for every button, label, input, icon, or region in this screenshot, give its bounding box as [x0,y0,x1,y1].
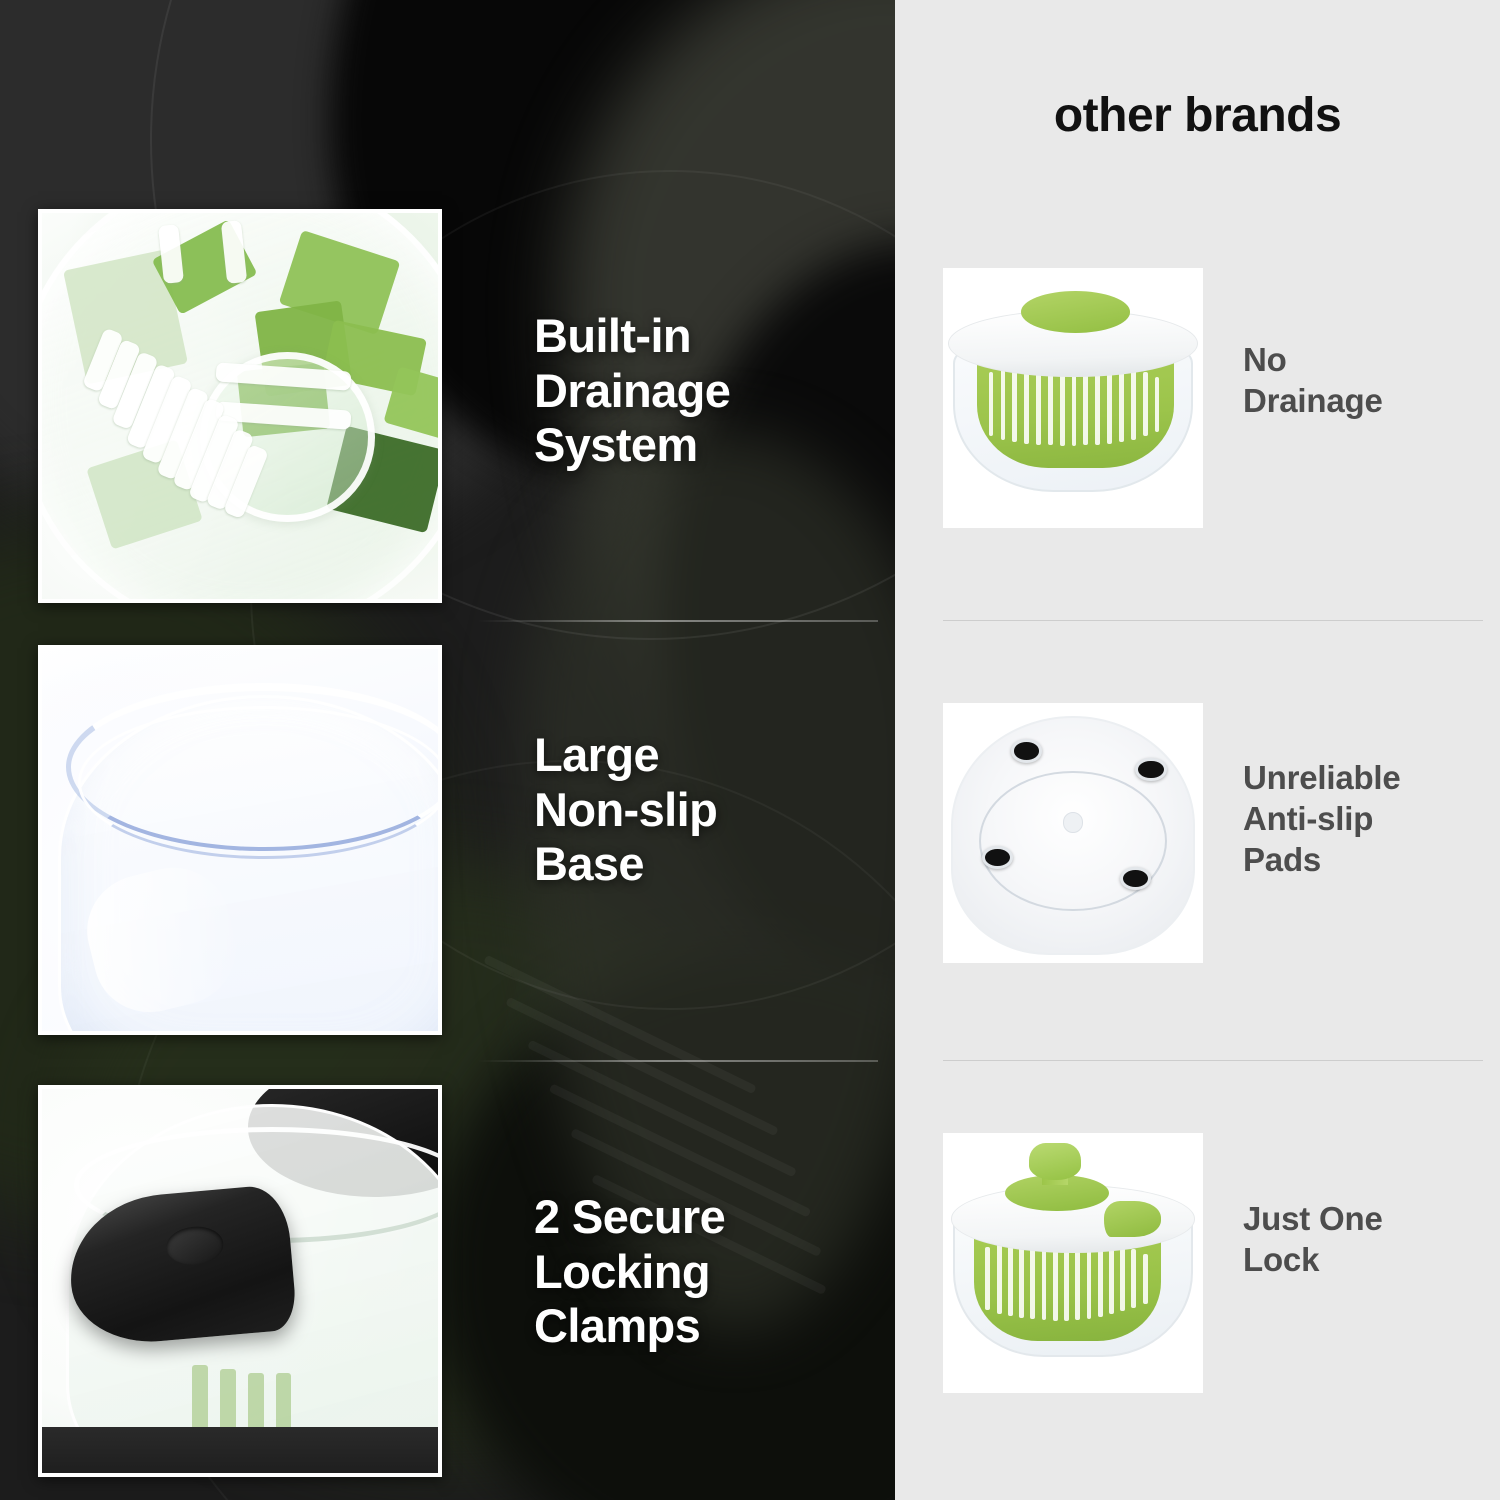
brand-label-anti-slip: Unreliable Anti-slip Pads [1243,758,1401,881]
brand-label-no-drainage: No Drainage [1243,340,1383,422]
our-product-panel: Built-in Drainage System Large Non-slip … [0,0,895,1500]
feature-title-base: Large Non-slip Base [534,728,717,892]
product-comparison-infographic: Built-in Drainage System Large Non-slip … [0,0,1500,1500]
brand-thumb-no-drainage [943,268,1203,528]
feature-title-drainage: Built-in Drainage System [534,309,730,473]
feature-title-clamps: 2 Secure Locking Clamps [534,1190,725,1354]
other-brands-panel: other brands [895,0,1500,1500]
anti-slip-pad-icon [1135,758,1166,781]
right-separator-2 [943,1060,1483,1061]
anti-slip-pad-icon [1120,867,1151,890]
brand-thumb-one-lock [943,1133,1203,1393]
feature-photo-drainage [38,209,442,603]
left-separator-2 [478,1060,878,1062]
other-brands-heading: other brands [895,88,1500,143]
brand-label-one-lock: Just One Lock [1243,1199,1383,1281]
brand-thumb-anti-slip [943,703,1203,963]
feature-photo-clamps [38,1085,442,1477]
anti-slip-pad-icon [1011,739,1042,762]
feature-photo-base [38,645,442,1035]
right-separator-1 [943,620,1483,621]
left-separator-1 [478,620,878,622]
single-lock-tab-icon [1104,1201,1161,1237]
